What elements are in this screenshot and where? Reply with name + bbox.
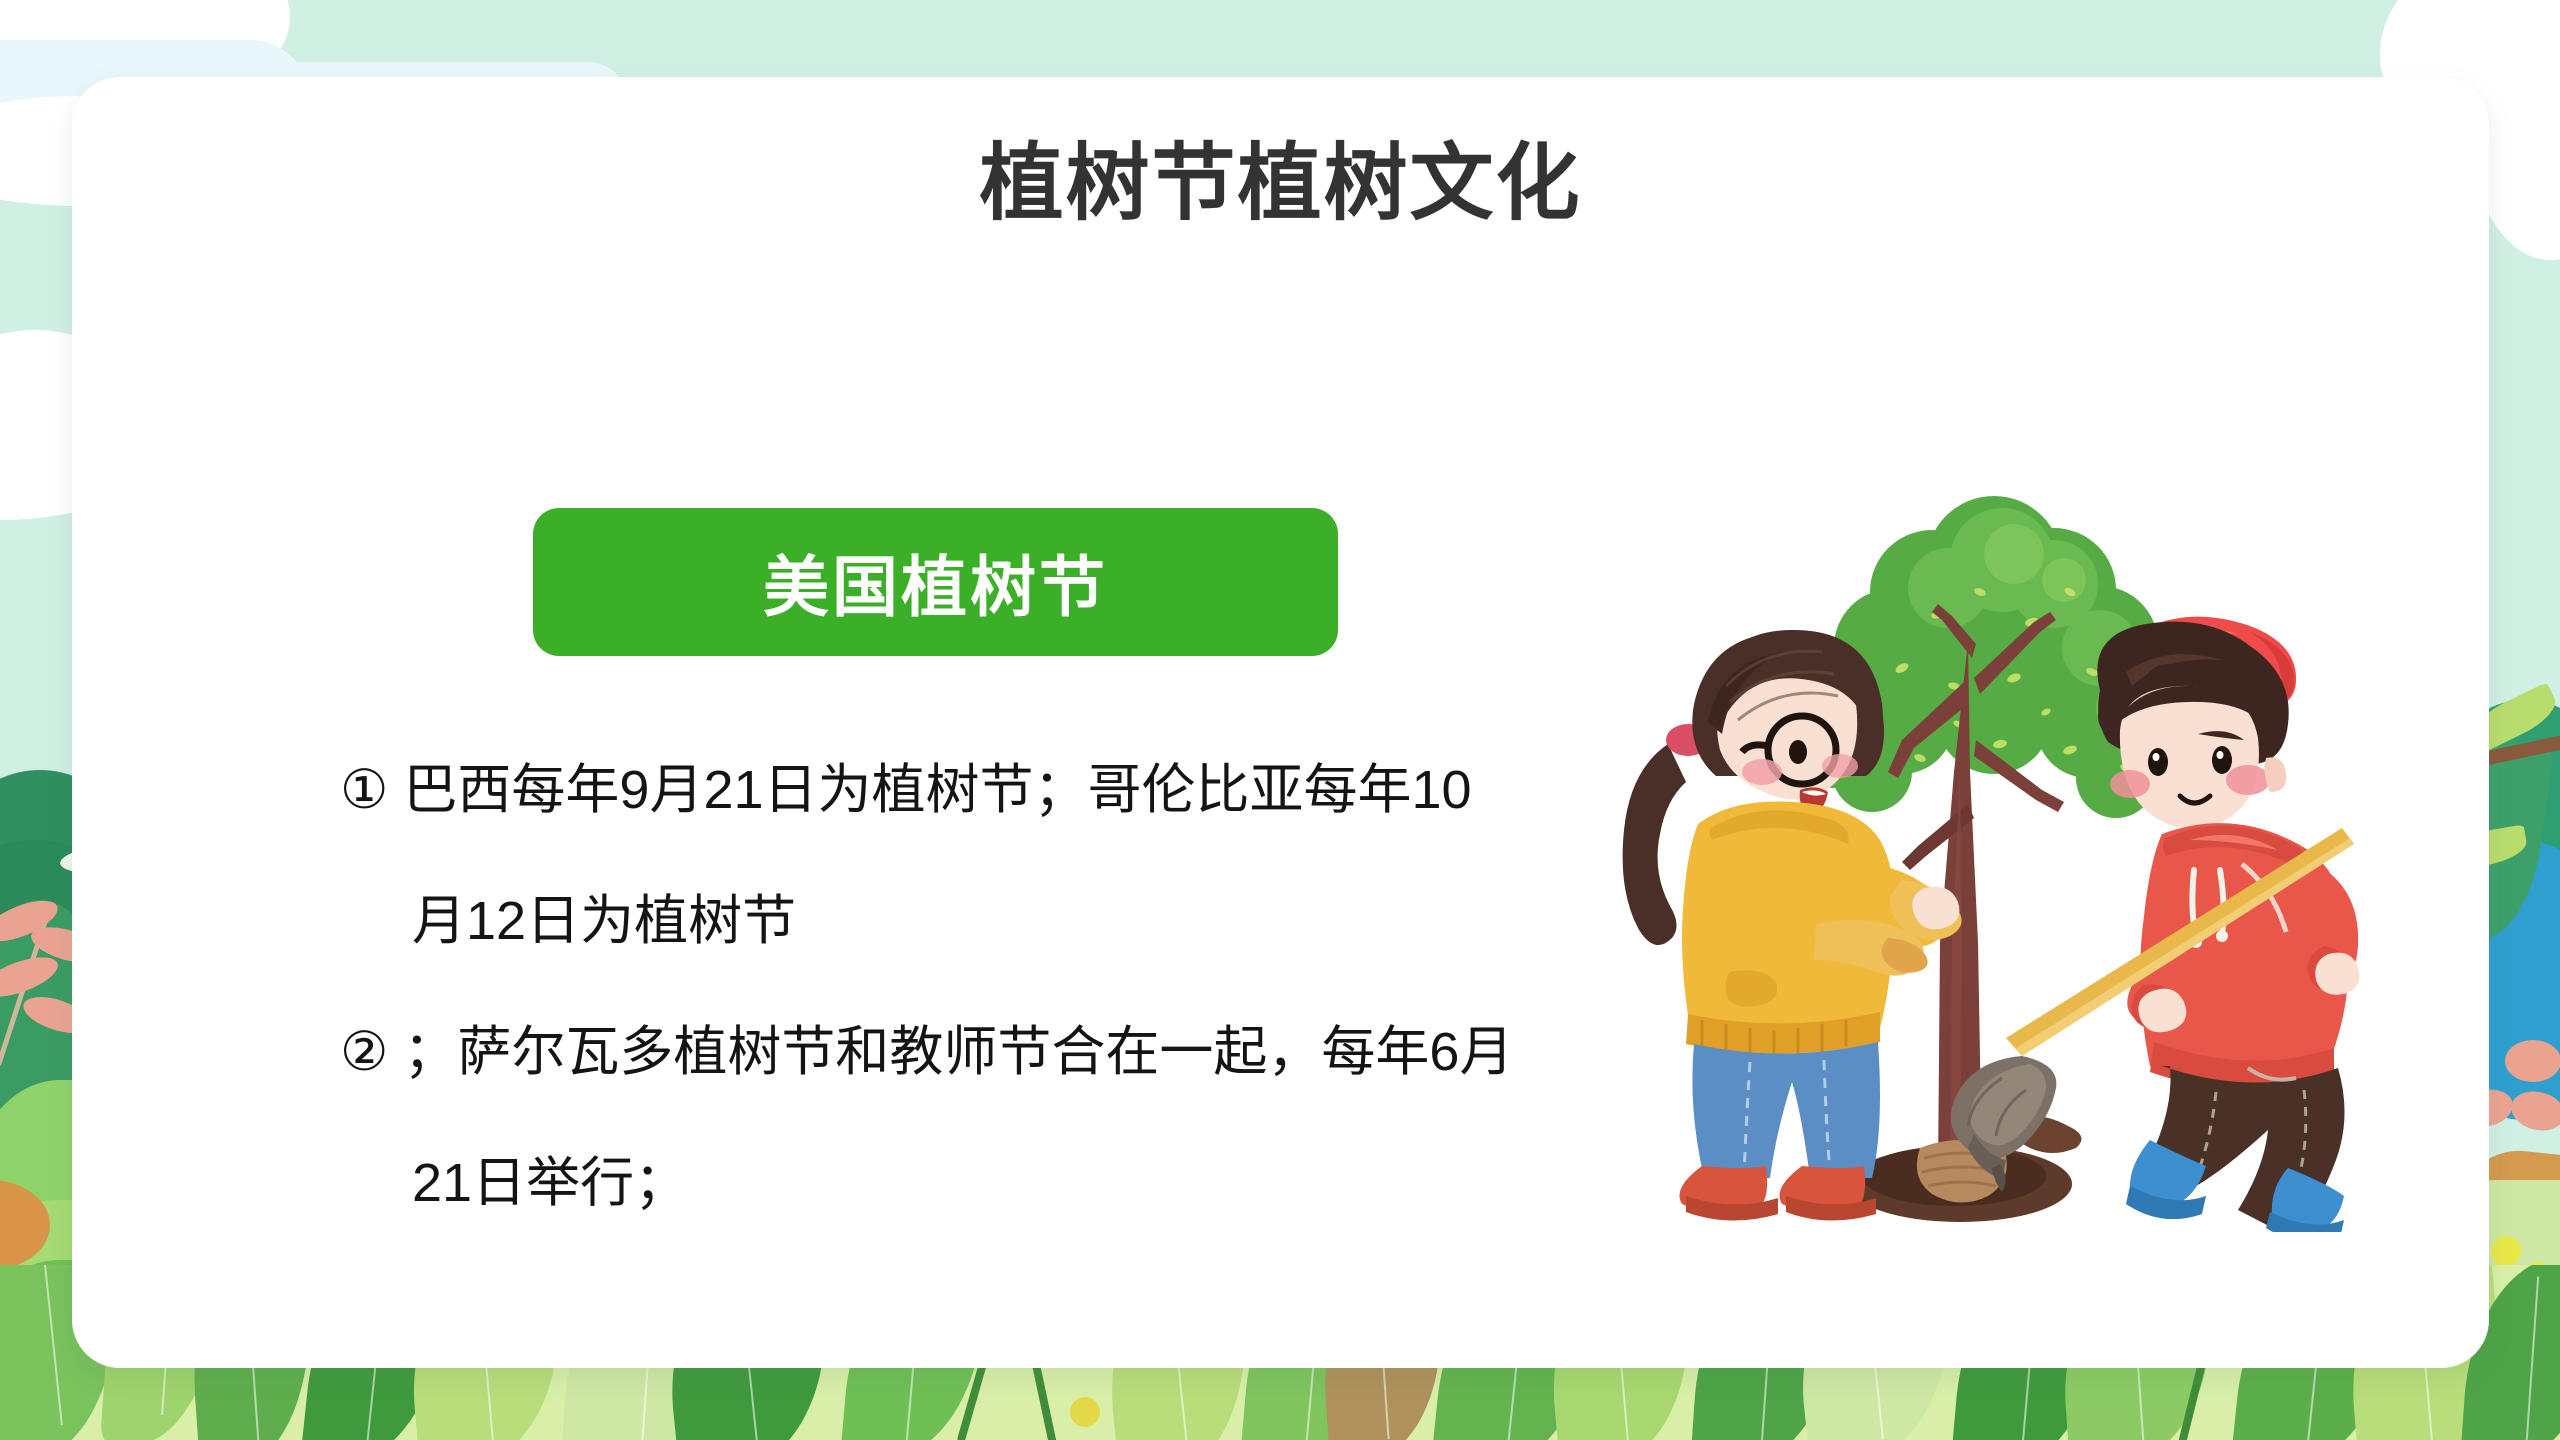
body-line-4: 21日举行； (340, 1118, 1520, 1249)
section-label-text: 美国植树节 (763, 534, 1108, 630)
flower-dot (2525, 1262, 2551, 1288)
illustration-children-planting-tree (1602, 472, 2392, 1232)
body-text-block: ① 巴西每年9月21日为植树节；哥伦比亚每年10 月12日为植树节 ② ；萨尔瓦… (340, 725, 1520, 1249)
slide-canvas: 植树节植树文化 美国植树节 ① 巴西每年9月21日为植树节；哥伦比亚每年10 月… (0, 0, 2560, 1440)
flower-stem (0, 903, 53, 1066)
page-title: 植树节植树文化 (72, 135, 2489, 232)
flower-petal (2507, 1086, 2560, 1136)
body-line-1: ① 巴西每年9月21日为植树节；哥伦比亚每年10 (340, 725, 1520, 856)
body-line-2: 月12日为植树节 (340, 856, 1520, 987)
flower-petal (0, 949, 63, 1005)
content-card: 植树节植树文化 美国植树节 ① 巴西每年9月21日为植树节；哥伦比亚每年10 月… (72, 77, 2489, 1368)
flower-dot (2491, 1236, 2521, 1266)
boy-figure (2097, 617, 2359, 1232)
cloud-shape (0, 0, 210, 86)
section-label-badge: 美国植树节 (533, 508, 1338, 656)
band-dot (1070, 1397, 1100, 1427)
foliage-accent-orange (0, 1180, 50, 1270)
flower-petal (2505, 1040, 2560, 1082)
body-line-3: ② ；萨尔瓦多植树节和教师节合在一起，每年6月 (340, 987, 1520, 1118)
flower-petal (0, 892, 63, 949)
